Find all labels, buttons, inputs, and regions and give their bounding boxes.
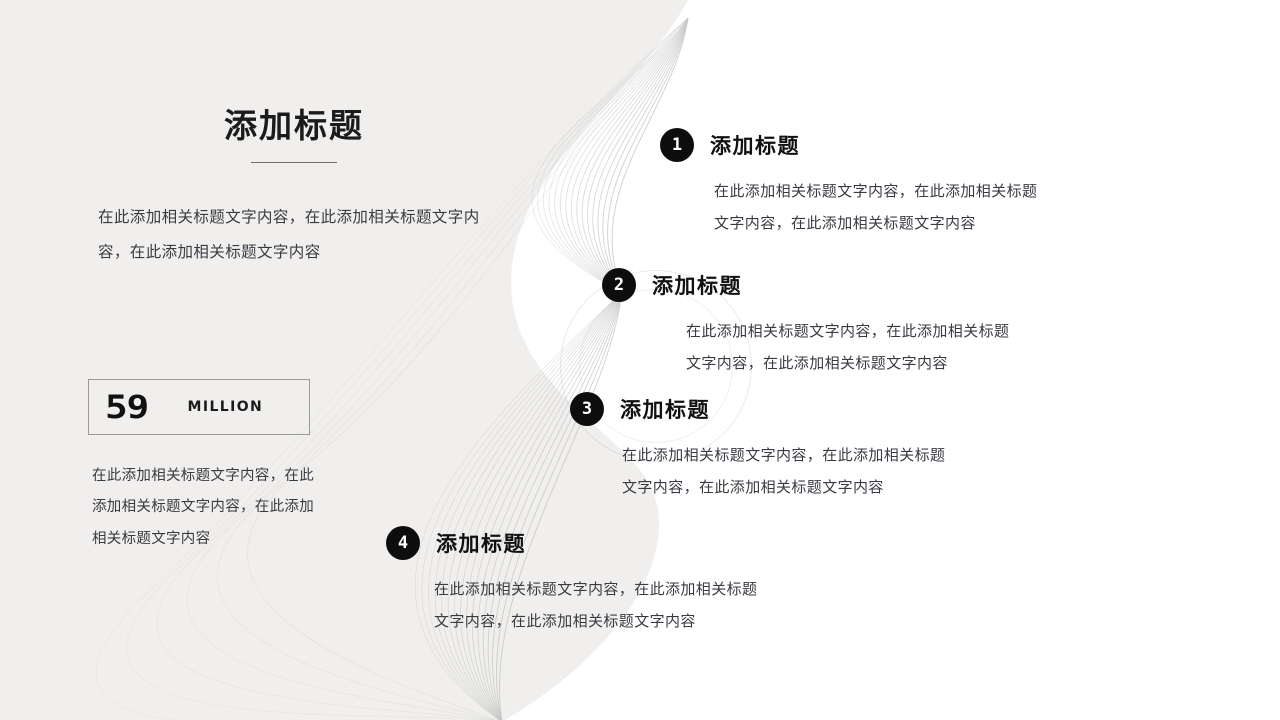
stat-paragraph: 在此添加相关标题文字内容，在此添加相关标题文字内容，在此添加相关标题文字内容: [92, 461, 314, 557]
title-divider: [251, 162, 337, 163]
list-item: 4 添加标题 在此添加相关标题文字内容，在此添加相关标题 文字内容，在此添加相关…: [386, 526, 757, 637]
list-item: 3 添加标题 在此添加相关标题文字内容，在此添加相关标题 文字内容，在此添加相关…: [570, 392, 945, 503]
item-body: 在此添加相关标题文字内容，在此添加相关标题 文字内容，在此添加相关标题文字内容: [434, 574, 757, 637]
item-body-line: 在此添加相关标题文字内容，在此添加相关标题: [686, 316, 1009, 348]
item-body-line: 文字内容，在此添加相关标题文字内容: [686, 348, 1009, 380]
item-title: 添加标题: [620, 394, 710, 424]
item-number-badge: 2: [602, 268, 636, 302]
item-number-badge: 4: [386, 526, 420, 560]
item-header: 4 添加标题: [386, 526, 757, 560]
item-header: 3 添加标题: [570, 392, 945, 426]
page-title: 添加标题: [98, 108, 490, 144]
item-title: 添加标题: [436, 528, 526, 558]
item-body: 在此添加相关标题文字内容，在此添加相关标题 文字内容，在此添加相关标题文字内容: [622, 440, 945, 503]
item-title: 添加标题: [710, 130, 800, 160]
item-number-badge: 3: [570, 392, 604, 426]
item-header: 2 添加标题: [602, 268, 1009, 302]
item-number-badge: 1: [660, 128, 694, 162]
item-body-line: 在此添加相关标题文字内容，在此添加相关标题: [434, 574, 757, 606]
stat-box: 59 MILLION: [88, 379, 310, 435]
item-header: 1 添加标题: [660, 128, 1037, 162]
item-body-line: 在此添加相关标题文字内容，在此添加相关标题: [714, 176, 1037, 208]
item-body-line: 文字内容，在此添加相关标题文字内容: [714, 208, 1037, 240]
left-content-column: 添加标题 在此添加相关标题文字内容，在此添加相关标题文字内容，在此添加相关标题文…: [98, 108, 490, 271]
item-title: 添加标题: [652, 270, 742, 300]
item-body: 在此添加相关标题文字内容，在此添加相关标题 文字内容，在此添加相关标题文字内容: [714, 176, 1037, 239]
item-body: 在此添加相关标题文字内容，在此添加相关标题 文字内容，在此添加相关标题文字内容: [686, 316, 1009, 379]
item-body-line: 文字内容，在此添加相关标题文字内容: [434, 606, 757, 638]
stat-unit-label: MILLION: [188, 399, 264, 415]
item-body-line: 文字内容，在此添加相关标题文字内容: [622, 472, 945, 504]
slide-canvas: 添加标题 在此添加相关标题文字内容，在此添加相关标题文字内容，在此添加相关标题文…: [0, 0, 1280, 720]
list-item: 2 添加标题 在此添加相关标题文字内容，在此添加相关标题 文字内容，在此添加相关…: [602, 268, 1009, 379]
item-body-line: 在此添加相关标题文字内容，在此添加相关标题: [622, 440, 945, 472]
left-paragraph: 在此添加相关标题文字内容，在此添加相关标题文字内容，在此添加相关标题文字内容: [98, 201, 490, 271]
stat-number: 59: [105, 391, 148, 423]
list-item: 1 添加标题 在此添加相关标题文字内容，在此添加相关标题 文字内容，在此添加相关…: [660, 128, 1037, 239]
